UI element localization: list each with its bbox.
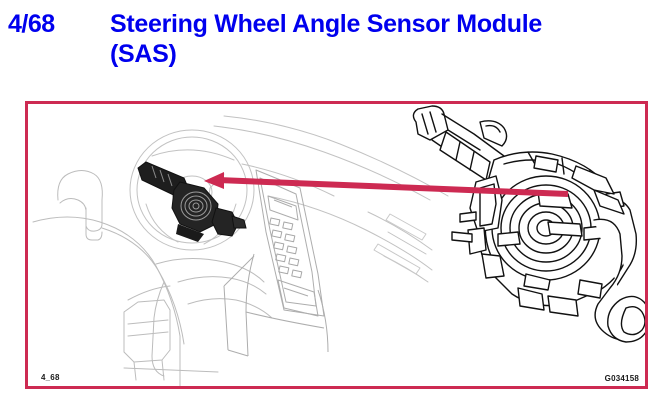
defroster-vent xyxy=(374,214,426,274)
page-header: 4/68 Steering Wheel Angle Sensor Module … xyxy=(0,0,667,92)
instrument-panel xyxy=(214,116,448,282)
figure-frame: 4_68 G034158 xyxy=(25,101,648,389)
page-number: 4/68 xyxy=(8,10,55,39)
combination-switch-installed xyxy=(138,162,246,242)
figure-ref-right: G034158 xyxy=(605,374,639,383)
figure-ref-left: 4_68 xyxy=(41,373,60,382)
combination-switch-assembly xyxy=(413,106,645,342)
seat-headrest xyxy=(58,171,103,241)
figure-illustration xyxy=(28,104,645,386)
cabin-interior xyxy=(33,116,448,386)
page-title-line-1: Steering Wheel Angle Sensor Module xyxy=(110,9,662,39)
pedal-bracket xyxy=(124,300,218,380)
page-title: Steering Wheel Angle Sensor Module (SAS) xyxy=(110,9,662,69)
page-title-line-2: (SAS) xyxy=(110,39,662,69)
